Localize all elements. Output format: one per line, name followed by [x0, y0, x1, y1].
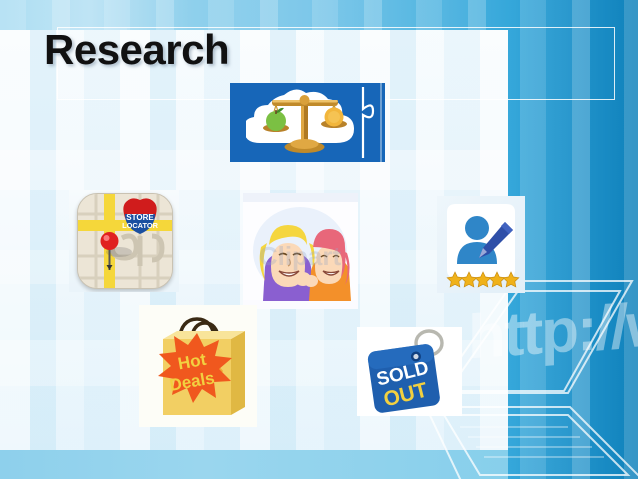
bag-side — [231, 331, 245, 415]
two-women-clipart: Clipart — [243, 193, 358, 309]
scale-icon — [256, 91, 354, 157]
person-head — [465, 216, 489, 240]
page-title: Research — [44, 26, 229, 74]
shopping-bag-graphic: Hot Deals — [139, 305, 257, 427]
store-locator-app-tile: STORE LOCATOR — [77, 193, 173, 289]
image-customer-review — [437, 196, 525, 293]
image-store-locator: STORE LOCATOR — [69, 190, 179, 292]
slide-canvas: http://www Research — [0, 0, 638, 479]
image-two-women-talking: Clipart — [243, 193, 358, 309]
map-graphic: STORE LOCATOR — [78, 194, 172, 288]
image-sold-out-tag: SOLD OUT — [357, 327, 462, 416]
review-icon — [437, 196, 525, 293]
image-balance-scale — [230, 83, 385, 162]
clipart-watermark: Clipart — [259, 241, 342, 271]
image-hot-deals-bag: Hot Deals — [139, 305, 257, 427]
sold-out-tag-graphic: SOLD OUT — [357, 327, 462, 416]
puzzle-piece-shape — [359, 83, 385, 162]
